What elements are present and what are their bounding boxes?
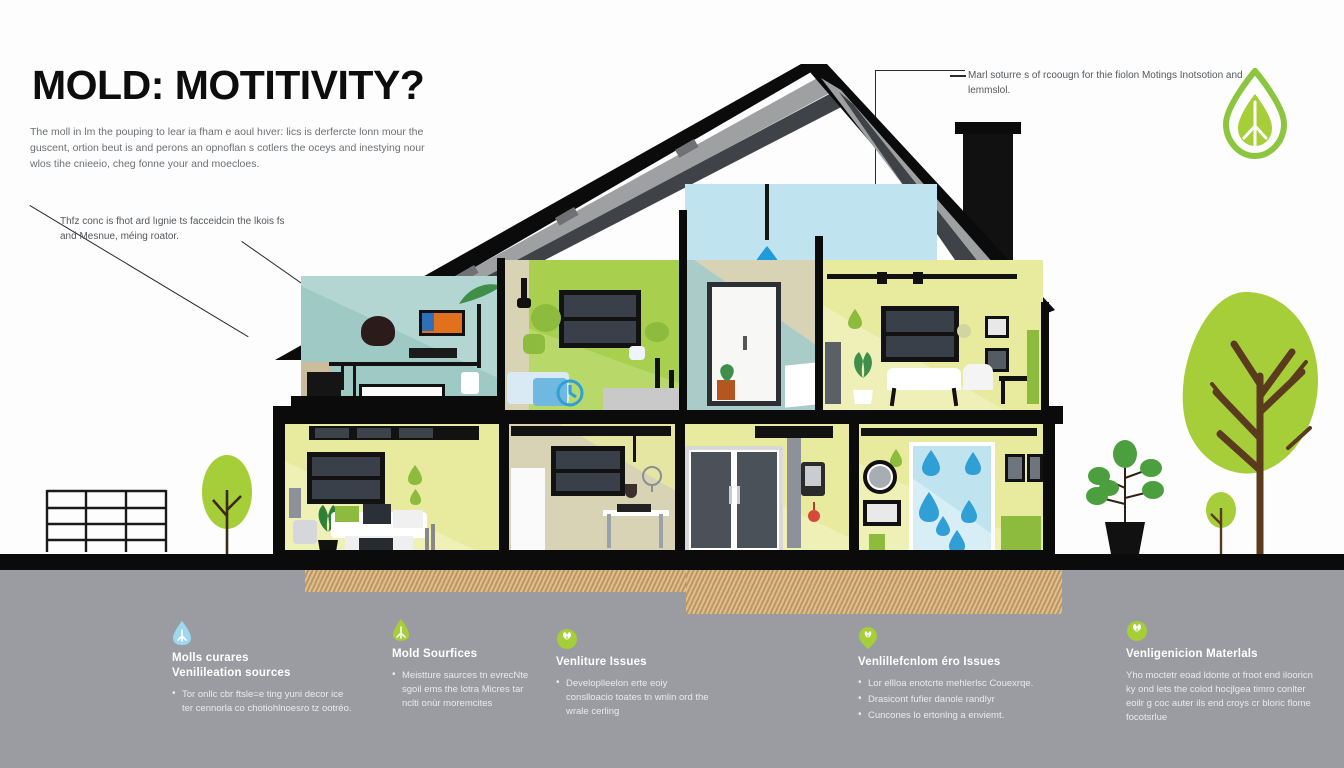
bedroom-window [559, 290, 641, 348]
lower-bathroom [857, 424, 1045, 554]
upper-hallway [687, 260, 819, 410]
upper-bedroom [503, 260, 685, 410]
upper-partition-2 [679, 210, 687, 410]
legend-bullet-3-0: Lor ellloa enotcrte mehlerlsc Couexrqe. [858, 677, 1044, 691]
attic-left-room [301, 276, 497, 410]
living-window [307, 452, 385, 504]
legend-item-0[interactable]: Molls curares Venilileation sources Tor … [172, 620, 352, 718]
legend-item-3[interactable]: Venlillefcnlom éro Issues Lor ellloa eno… [858, 626, 1044, 725]
dining-window [881, 306, 959, 362]
water-drop-icon [172, 620, 192, 646]
legend-bullet-2-0: Developlleelon erte eoiy conslloacio toa… [556, 677, 716, 719]
leaf-pin-icon [858, 626, 878, 650]
legend-heading-4: Venligenicion Materlals [1126, 647, 1316, 662]
condensation-drops [913, 444, 995, 552]
attic-left-floor [291, 396, 501, 408]
legend-body-1: Meistture saurces tn evrecNte sgoil ems … [392, 669, 542, 711]
legend-bullet-1-0: Meistture saurces tn evrecNte sgoil ems … [392, 669, 542, 711]
tree-right [1168, 288, 1328, 556]
legend-bullet-0-0: Tor onllc cbr ftsle=e ting yuni decor ic… [172, 688, 352, 716]
lower-living-room [285, 424, 503, 554]
kitchen-window [551, 446, 625, 496]
ground-line [0, 554, 1344, 570]
wall-right-exterior [1043, 416, 1055, 558]
fence [44, 486, 170, 554]
leaf-badge-icon [556, 628, 578, 650]
tree-left [196, 454, 258, 554]
upper-partition-3 [815, 236, 823, 410]
house-cross-section [255, 60, 1075, 560]
upper-living [821, 260, 1043, 410]
mold-drop-icon-2 [409, 488, 422, 506]
wall-left-exterior [273, 416, 285, 558]
legend-item-2[interactable]: Venliture Issues Developlleelon erte eoi… [556, 628, 716, 721]
legend-item-1[interactable]: Mold Sourfices Meistture saurces tn evre… [392, 618, 542, 713]
legend-section: Molls curares Venilileation sources Tor … [0, 598, 1344, 768]
legend-bullet-3-1: Drasicont fufier danole randlyr [858, 693, 1044, 707]
infographic-page: MOLD: MOTITIVITY? The moll in lm the pou… [0, 0, 1344, 768]
lower-entry [683, 424, 853, 554]
potted-plant [1083, 430, 1167, 556]
legend-body-0: Tor onllc cbr ftsle=e ting yuni decor ic… [172, 688, 352, 716]
wall-partition-1 [499, 416, 509, 558]
legend-body-2: Developlleelon erte eoiy conslloacio toa… [556, 677, 716, 719]
mold-drop-icon [847, 308, 863, 330]
legend-bullet-3-2: Cuncones lo ertonlng a enviemt. [858, 709, 1044, 723]
callout-left-text: Thfz conc is fhot ard lıgnie ts facceidc… [60, 214, 285, 244]
lower-kitchen [507, 424, 679, 554]
wall-partition-3 [849, 416, 859, 558]
shrub-right [1202, 490, 1240, 556]
legend-body-4: Yho moctetr eoad ldonte ot froot end ilo… [1126, 669, 1316, 725]
foundation-footing-left [305, 570, 686, 592]
legend-heading-3: Venlillefcnlom éro Issues [858, 655, 1044, 670]
upper-partition-1 [497, 258, 505, 410]
lower-floor-top [273, 416, 1063, 424]
mold-drop-icon-1 [407, 464, 423, 486]
legend-heading-2: Venliture Issues [556, 655, 716, 670]
legend-heading-1: Mold Sourfices [392, 647, 542, 662]
leaf-drop-icon [392, 618, 410, 642]
legend-heading-0: Molls curares Venilileation sources [172, 651, 352, 681]
illustration-canvas: MOLD: MOTITIVITY? The moll in lm the pou… [0, 0, 1344, 600]
wall-partition-2 [675, 416, 685, 558]
upper-wall-right [1041, 302, 1049, 410]
legend-body-3: Lor ellloa enotcrte mehlerlsc Couexrqe. … [858, 677, 1044, 723]
legend-item-4[interactable]: Venligenicion Materlals Yho moctetr eoad… [1126, 620, 1316, 725]
leaf-badge-icon [1126, 620, 1148, 642]
droplet-leaf-logo [1222, 68, 1288, 160]
